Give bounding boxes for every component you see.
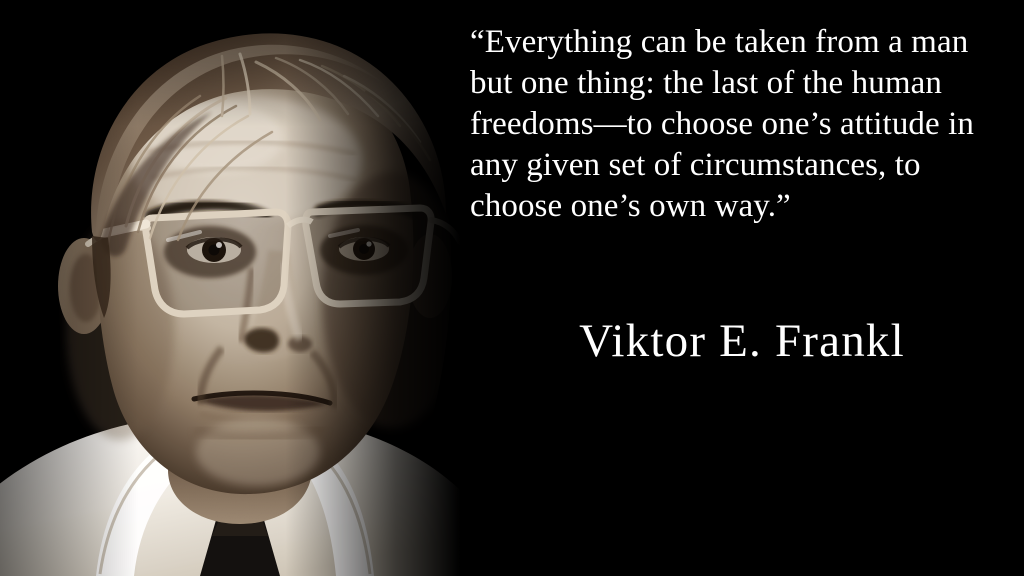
portrait-photo [0,0,460,576]
quote-line: any given set of circumstances, to [470,145,1016,186]
portrait-illustration [0,0,460,576]
quote-text: “Everything can be taken from a man but … [470,22,1016,227]
text-panel: “Everything can be taken from a man but … [460,0,1024,576]
author-name: Viktor E. Frankl [460,312,1024,370]
quote-line: “Everything can be taken from a man [470,22,1016,63]
quote-line: but one thing: the last of the human [470,63,1016,104]
quote-line: freedoms—to choose one’s attitude in [470,104,1016,145]
quote-line: choose one’s own way.” [470,186,1016,227]
quote-card: “Everything can be taken from a man but … [0,0,1024,576]
attribution: Viktor E. Frankl [460,312,1024,370]
